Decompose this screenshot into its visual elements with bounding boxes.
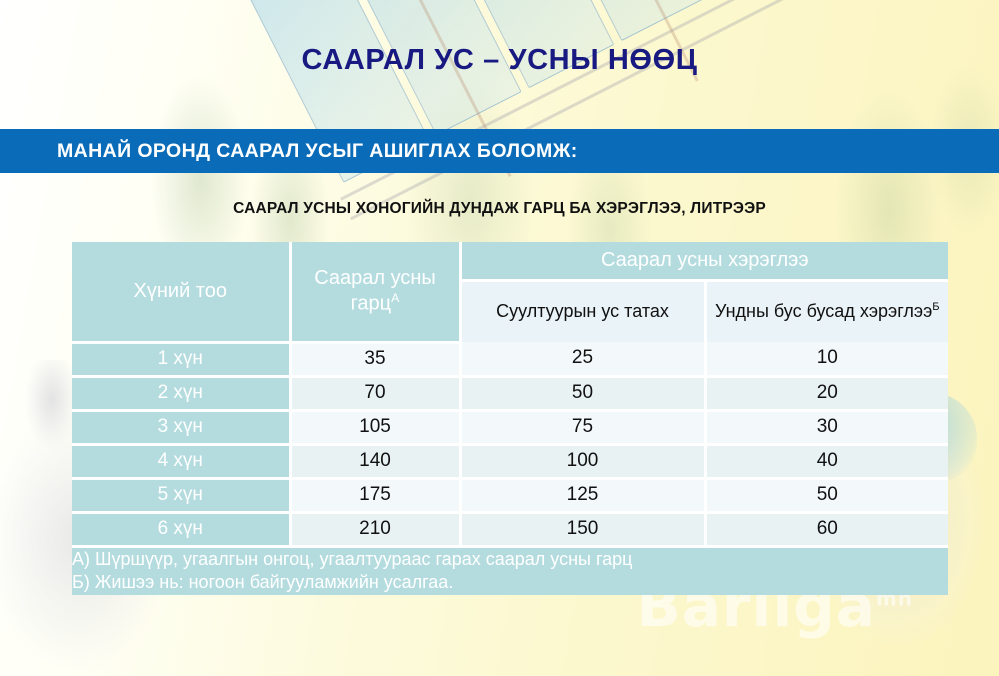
section-banner: МАНАЙ ОРОНД СААРАЛ УСЫГ АШИГЛАХ БОЛОМЖ: — [0, 129, 999, 173]
header-people: Хүний тоо — [72, 242, 290, 342]
header-toilet-flush: Суултуурын ус татах — [460, 280, 705, 342]
greywater-data-table: Хүний тоо Саарал усны гарцА Саарал усны … — [72, 242, 948, 595]
table-row: 1 хүн 35 25 10 — [72, 342, 948, 376]
cell-toilet: 75 — [460, 410, 705, 444]
cell-other: 20 — [705, 376, 948, 410]
row-label: 3 хүн — [72, 410, 290, 444]
row-label: 2 хүн — [72, 376, 290, 410]
table-row: 4 хүн 140 100 40 — [72, 444, 948, 478]
table-footnotes: А) Шүршүүр, угаалгын онгоц, угаалтуураас… — [72, 546, 948, 595]
slide-title: СААРАЛ УС – УСНЫ НӨӨЦ — [0, 44, 999, 77]
cell-other: 60 — [705, 512, 948, 546]
header-greywater-output: Саарал усны гарцА — [290, 242, 460, 342]
cell-output: 175 — [290, 478, 460, 512]
row-label: 5 хүн — [72, 478, 290, 512]
table-row: 3 хүн 105 75 30 — [72, 410, 948, 444]
cell-output: 140 — [290, 444, 460, 478]
table-row: 6 хүн 210 150 60 — [72, 512, 948, 546]
header-greywater-output-footnote-mark: А — [391, 291, 399, 305]
cell-output: 105 — [290, 410, 460, 444]
footnote-a: А) Шүршүүр, угаалгын онгоц, угаалтуураас… — [72, 548, 948, 572]
data-table-container: Хүний тоо Саарал усны гарцА Саарал усны … — [72, 242, 948, 595]
table-row: 2 хүн 70 50 20 — [72, 376, 948, 410]
table-row: 5 хүн 175 125 50 — [72, 478, 948, 512]
row-label: 6 хүн — [72, 512, 290, 546]
cell-toilet: 100 — [460, 444, 705, 478]
header-other-nonpotable: Ундны бус бусад хэрэглээБ — [705, 280, 948, 342]
cell-toilet: 25 — [460, 342, 705, 376]
cell-other: 10 — [705, 342, 948, 376]
header-greywater-output-label: Саарал усны гарц — [314, 267, 436, 315]
cell-toilet: 50 — [460, 376, 705, 410]
cell-output: 35 — [290, 342, 460, 376]
header-greywater-usage-group: Саарал усны хэрэглээ — [460, 242, 948, 280]
table-footnotes-row: А) Шүршүүр, угаалгын онгоц, угаалтуураас… — [72, 546, 948, 595]
row-label: 4 хүн — [72, 444, 290, 478]
cell-other: 50 — [705, 478, 948, 512]
row-label: 1 хүн — [72, 342, 290, 376]
cell-other: 30 — [705, 410, 948, 444]
table-header-row-1: Хүний тоо Саарал усны гарцА Саарал усны … — [72, 242, 948, 280]
section-banner-label: МАНАЙ ОРОНД СААРАЛ УСЫГ АШИГЛАХ БОЛОМЖ: — [57, 129, 578, 173]
cell-other: 40 — [705, 444, 948, 478]
header-other-nonpotable-label: Ундны бус бусад хэрэглээ — [715, 301, 932, 321]
footnote-b: Б) Жишээ нь: ногоон байгууламжийн усалга… — [72, 571, 948, 595]
cell-toilet: 150 — [460, 512, 705, 546]
table-caption: СААРАЛ УСНЫ ХОНОГИЙН ДУНДАЖ ГАРЦ БА ХЭРЭ… — [0, 200, 999, 218]
slide-canvas: Barilgamn СААРАЛ УС – УСНЫ НӨӨЦ МАНАЙ ОР… — [0, 0, 999, 676]
cell-toilet: 125 — [460, 478, 705, 512]
header-other-nonpotable-footnote-mark: Б — [932, 301, 939, 313]
cell-output: 210 — [290, 512, 460, 546]
cell-output: 70 — [290, 376, 460, 410]
